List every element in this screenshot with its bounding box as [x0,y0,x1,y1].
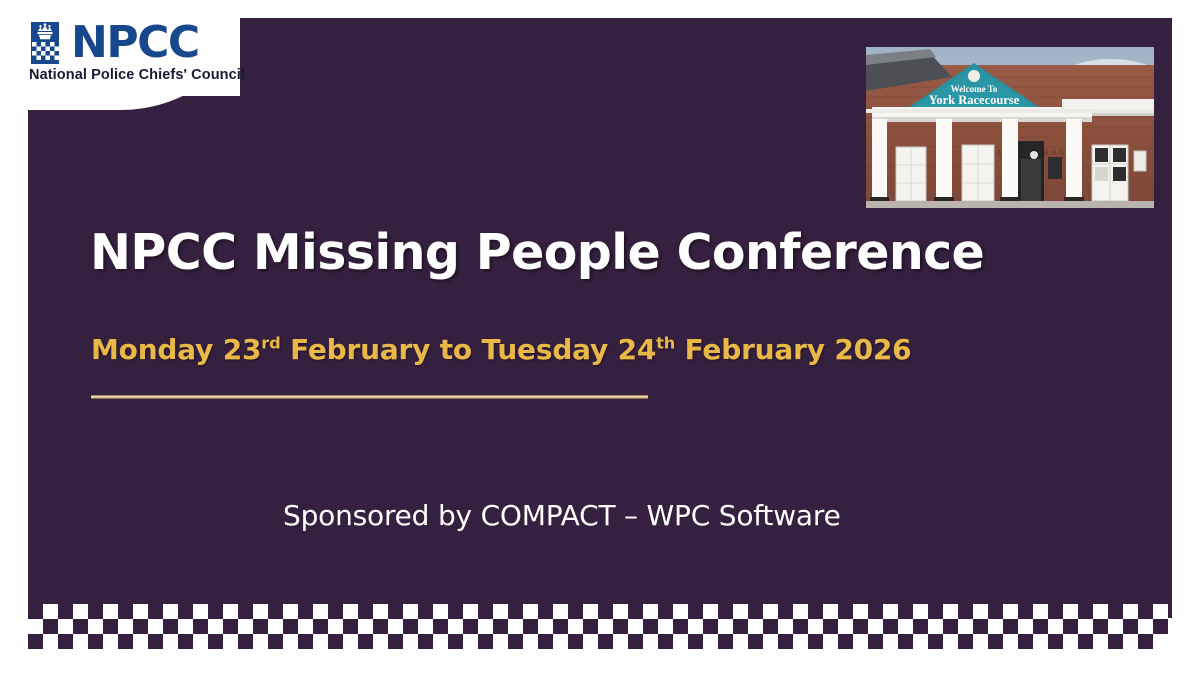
checker-square [718,619,733,634]
checker-square [523,634,538,649]
checker-square [163,634,178,649]
checker-square [328,619,343,634]
checker-square [313,619,328,634]
checker-square [658,619,673,634]
checker-square [583,619,598,634]
date-ordinal-second: th [656,334,675,353]
checker-square [1063,604,1078,619]
checker-square [733,634,748,649]
checker-square [823,604,838,619]
checker-square [958,634,973,649]
checker-square [883,634,898,649]
checker-square [403,634,418,649]
checker-square [583,604,598,619]
checker-square [598,619,613,634]
checker-square [163,619,178,634]
checker-square [328,634,343,649]
checker-row-top [28,604,1172,619]
checker-square [208,619,223,634]
checker-square [748,619,763,634]
checker-square [178,604,193,619]
checker-square [163,604,178,619]
checker-square [253,634,268,649]
checker-square [298,619,313,634]
checker-row-bottom [28,634,1172,649]
checker-square [1138,619,1153,634]
checker-square [1078,604,1093,619]
checker-square [448,604,463,619]
checker-square [538,634,553,649]
checker-square [703,619,718,634]
checker-square [118,634,133,649]
checker-square [433,604,448,619]
checker-square [718,604,733,619]
checker-square [1153,604,1168,619]
checker-square [673,619,688,634]
checker-square [58,634,73,649]
checker-square [1063,634,1078,649]
checker-square [943,619,958,634]
checker-square [763,619,778,634]
checker-square [568,619,583,634]
date-suffix: February 2026 [675,333,911,366]
checker-square [493,619,508,634]
checker-square [913,604,928,619]
checker-square [433,619,448,634]
checker-square [148,619,163,634]
checker-square [388,634,403,649]
checker-square [43,634,58,649]
checker-square [853,619,868,634]
checker-square [808,634,823,649]
checker-square [418,619,433,634]
checker-square [193,634,208,649]
checker-square [538,604,553,619]
checker-square [1033,604,1048,619]
checker-square [733,604,748,619]
npcc-subtitle: National Police Chiefs' Council [29,67,245,83]
checker-square [133,634,148,649]
checker-square [193,604,208,619]
checker-square [268,619,283,634]
checker-square [1003,634,1018,649]
checker-square [808,604,823,619]
checker-square [238,634,253,649]
checker-square [988,604,1003,619]
checker-square [268,634,283,649]
checker-square [103,619,118,634]
checker-square [1018,619,1033,634]
checker-square [313,604,328,619]
york-racecourse-photo: Welcome To York Racecourse MAIN ENTRANCE [866,47,1154,208]
checker-square [28,634,43,649]
checker-square [478,634,493,649]
npcc-logo: NPCC National Police Chiefs' Council [28,22,245,83]
checker-square [898,604,913,619]
checker-square [613,634,628,649]
checker-square [418,604,433,619]
checker-square [28,619,43,634]
checker-square [553,604,568,619]
checker-square [883,619,898,634]
checker-square [1033,619,1048,634]
checker-square [253,604,268,619]
checker-square [1093,634,1108,649]
checker-square [133,604,148,619]
checker-square [793,604,808,619]
checker-square [673,634,688,649]
checker-square [88,619,103,634]
checker-square [823,634,838,649]
checker-square [448,619,463,634]
checker-square [448,634,463,649]
checker-square [643,604,658,619]
date-prefix: Monday 23 [91,333,261,366]
checker-square [1078,634,1093,649]
checker-square [268,604,283,619]
checker-square [223,604,238,619]
npcc-wordmark: NPCC [71,23,199,63]
date-middle: February to Tuesday 24 [281,333,657,366]
checker-square [373,634,388,649]
checker-square [643,634,658,649]
checker-square [658,604,673,619]
checker-square [493,604,508,619]
checker-square [613,619,628,634]
checker-square [793,619,808,634]
npcc-logo-row: NPCC [28,22,199,64]
checker-square [1138,634,1153,649]
checker-square [703,604,718,619]
checker-square [583,634,598,649]
checker-square [508,634,523,649]
checker-square [883,604,898,619]
checker-square [1123,604,1138,619]
checker-square [1018,604,1033,619]
checker-square [808,619,823,634]
checker-square [568,634,583,649]
checker-square [388,619,403,634]
checker-square [943,604,958,619]
checker-square [103,604,118,619]
checker-square [88,604,103,619]
checker-square [178,634,193,649]
conference-poster: NPCC National Police Chiefs' Council [0,0,1200,675]
checker-square [523,619,538,634]
checker-square [463,619,478,634]
checker-square [208,604,223,619]
checker-square [103,634,118,649]
checker-square [1093,619,1108,634]
checker-square [73,634,88,649]
checker-square [298,634,313,649]
checker-square [193,619,208,634]
checker-square [1108,634,1123,649]
checker-square [598,634,613,649]
checker-square [373,619,388,634]
checker-square [1123,634,1138,649]
checker-square [208,634,223,649]
checker-square [778,634,793,649]
checker-square [1048,619,1063,634]
checker-square [43,619,58,634]
checker-square [508,619,523,634]
checker-square [418,634,433,649]
checker-square [763,634,778,649]
checker-square [1048,634,1063,649]
checker-square [853,634,868,649]
checker-square [238,619,253,634]
checker-square [718,634,733,649]
checker-square [478,619,493,634]
checker-square [118,604,133,619]
checker-square [1138,604,1153,619]
checker-square [688,619,703,634]
checker-square [1123,619,1138,634]
checker-square [1018,634,1033,649]
checker-square [973,634,988,649]
checker-square [613,604,628,619]
gold-divider [91,395,648,399]
checker-square [778,604,793,619]
checker-square [238,604,253,619]
checker-square [328,604,343,619]
checker-square [523,604,538,619]
checker-square [628,619,643,634]
checker-border [28,604,1172,649]
checker-square [748,634,763,649]
checker-square [598,604,613,619]
checker-square [148,634,163,649]
checker-square [823,619,838,634]
checker-square [73,604,88,619]
checker-square [943,634,958,649]
checker-square [253,619,268,634]
checker-square [508,604,523,619]
checker-square [358,619,373,634]
checker-square [58,604,73,619]
checker-square [673,604,688,619]
checker-square [283,634,298,649]
checker-square [973,619,988,634]
police-crest-icon [28,22,62,64]
checker-square [493,634,508,649]
checker-square [388,604,403,619]
checker-square [403,604,418,619]
checker-square [868,604,883,619]
checker-square [118,619,133,634]
checker-square [1003,604,1018,619]
checker-square [703,634,718,649]
date-ordinal-first: rd [261,334,280,353]
checker-square [178,619,193,634]
checker-square [1093,604,1108,619]
checker-square [58,619,73,634]
checker-square [223,634,238,649]
checker-square [928,604,943,619]
photo-sign-line2: York Racecourse [929,93,1020,107]
conference-dates: Monday 23rd February to Tuesday 24th Feb… [91,333,911,366]
checker-square [913,619,928,634]
checker-square [478,604,493,619]
checker-square [1153,634,1168,649]
checker-square [343,634,358,649]
checker-square [838,634,853,649]
checker-square [1003,619,1018,634]
checker-square [343,604,358,619]
checker-square [778,619,793,634]
checker-square [1078,619,1093,634]
checker-square [538,619,553,634]
checker-square [643,619,658,634]
checker-square [868,619,883,634]
checker-square [1108,619,1123,634]
checker-square [658,634,673,649]
checker-square [298,604,313,619]
checker-square [838,604,853,619]
checker-square [838,619,853,634]
checker-square [913,634,928,649]
checker-square [988,619,1003,634]
checker-square [928,634,943,649]
checker-square [28,604,43,619]
checker-square [853,604,868,619]
checker-square [358,604,373,619]
checker-square [793,634,808,649]
checker-square [403,619,418,634]
checker-square [928,619,943,634]
checker-square [958,604,973,619]
checker-square [898,634,913,649]
checker-square [628,634,643,649]
checker-square [733,619,748,634]
checker-square [223,619,238,634]
sponsor-line: Sponsored by COMPACT – WPC Software [283,499,841,532]
checker-square [1108,604,1123,619]
checker-square [958,619,973,634]
checker-square [553,619,568,634]
checker-square [898,619,913,634]
checker-square [763,604,778,619]
checker-square [373,604,388,619]
checker-row-middle [28,619,1172,634]
checker-square [313,634,328,649]
checker-square [688,634,703,649]
checker-square [463,604,478,619]
checker-square [553,634,568,649]
checker-square [148,604,163,619]
page-title: NPCC Missing People Conference [90,224,984,281]
checker-square [88,634,103,649]
checker-square [1153,619,1168,634]
checker-square [133,619,148,634]
checker-square [1063,619,1078,634]
checker-square [343,619,358,634]
checker-square [988,634,1003,649]
checker-square [568,604,583,619]
checker-square [433,634,448,649]
checker-square [43,604,58,619]
checker-square [1048,604,1063,619]
checker-square [283,604,298,619]
checker-square [868,634,883,649]
checker-square [73,619,88,634]
checker-square [358,634,373,649]
checker-square [688,604,703,619]
checker-square [1033,634,1048,649]
checker-square [973,604,988,619]
checker-square [748,604,763,619]
checker-square [463,634,478,649]
checker-square [628,604,643,619]
checker-square [283,619,298,634]
